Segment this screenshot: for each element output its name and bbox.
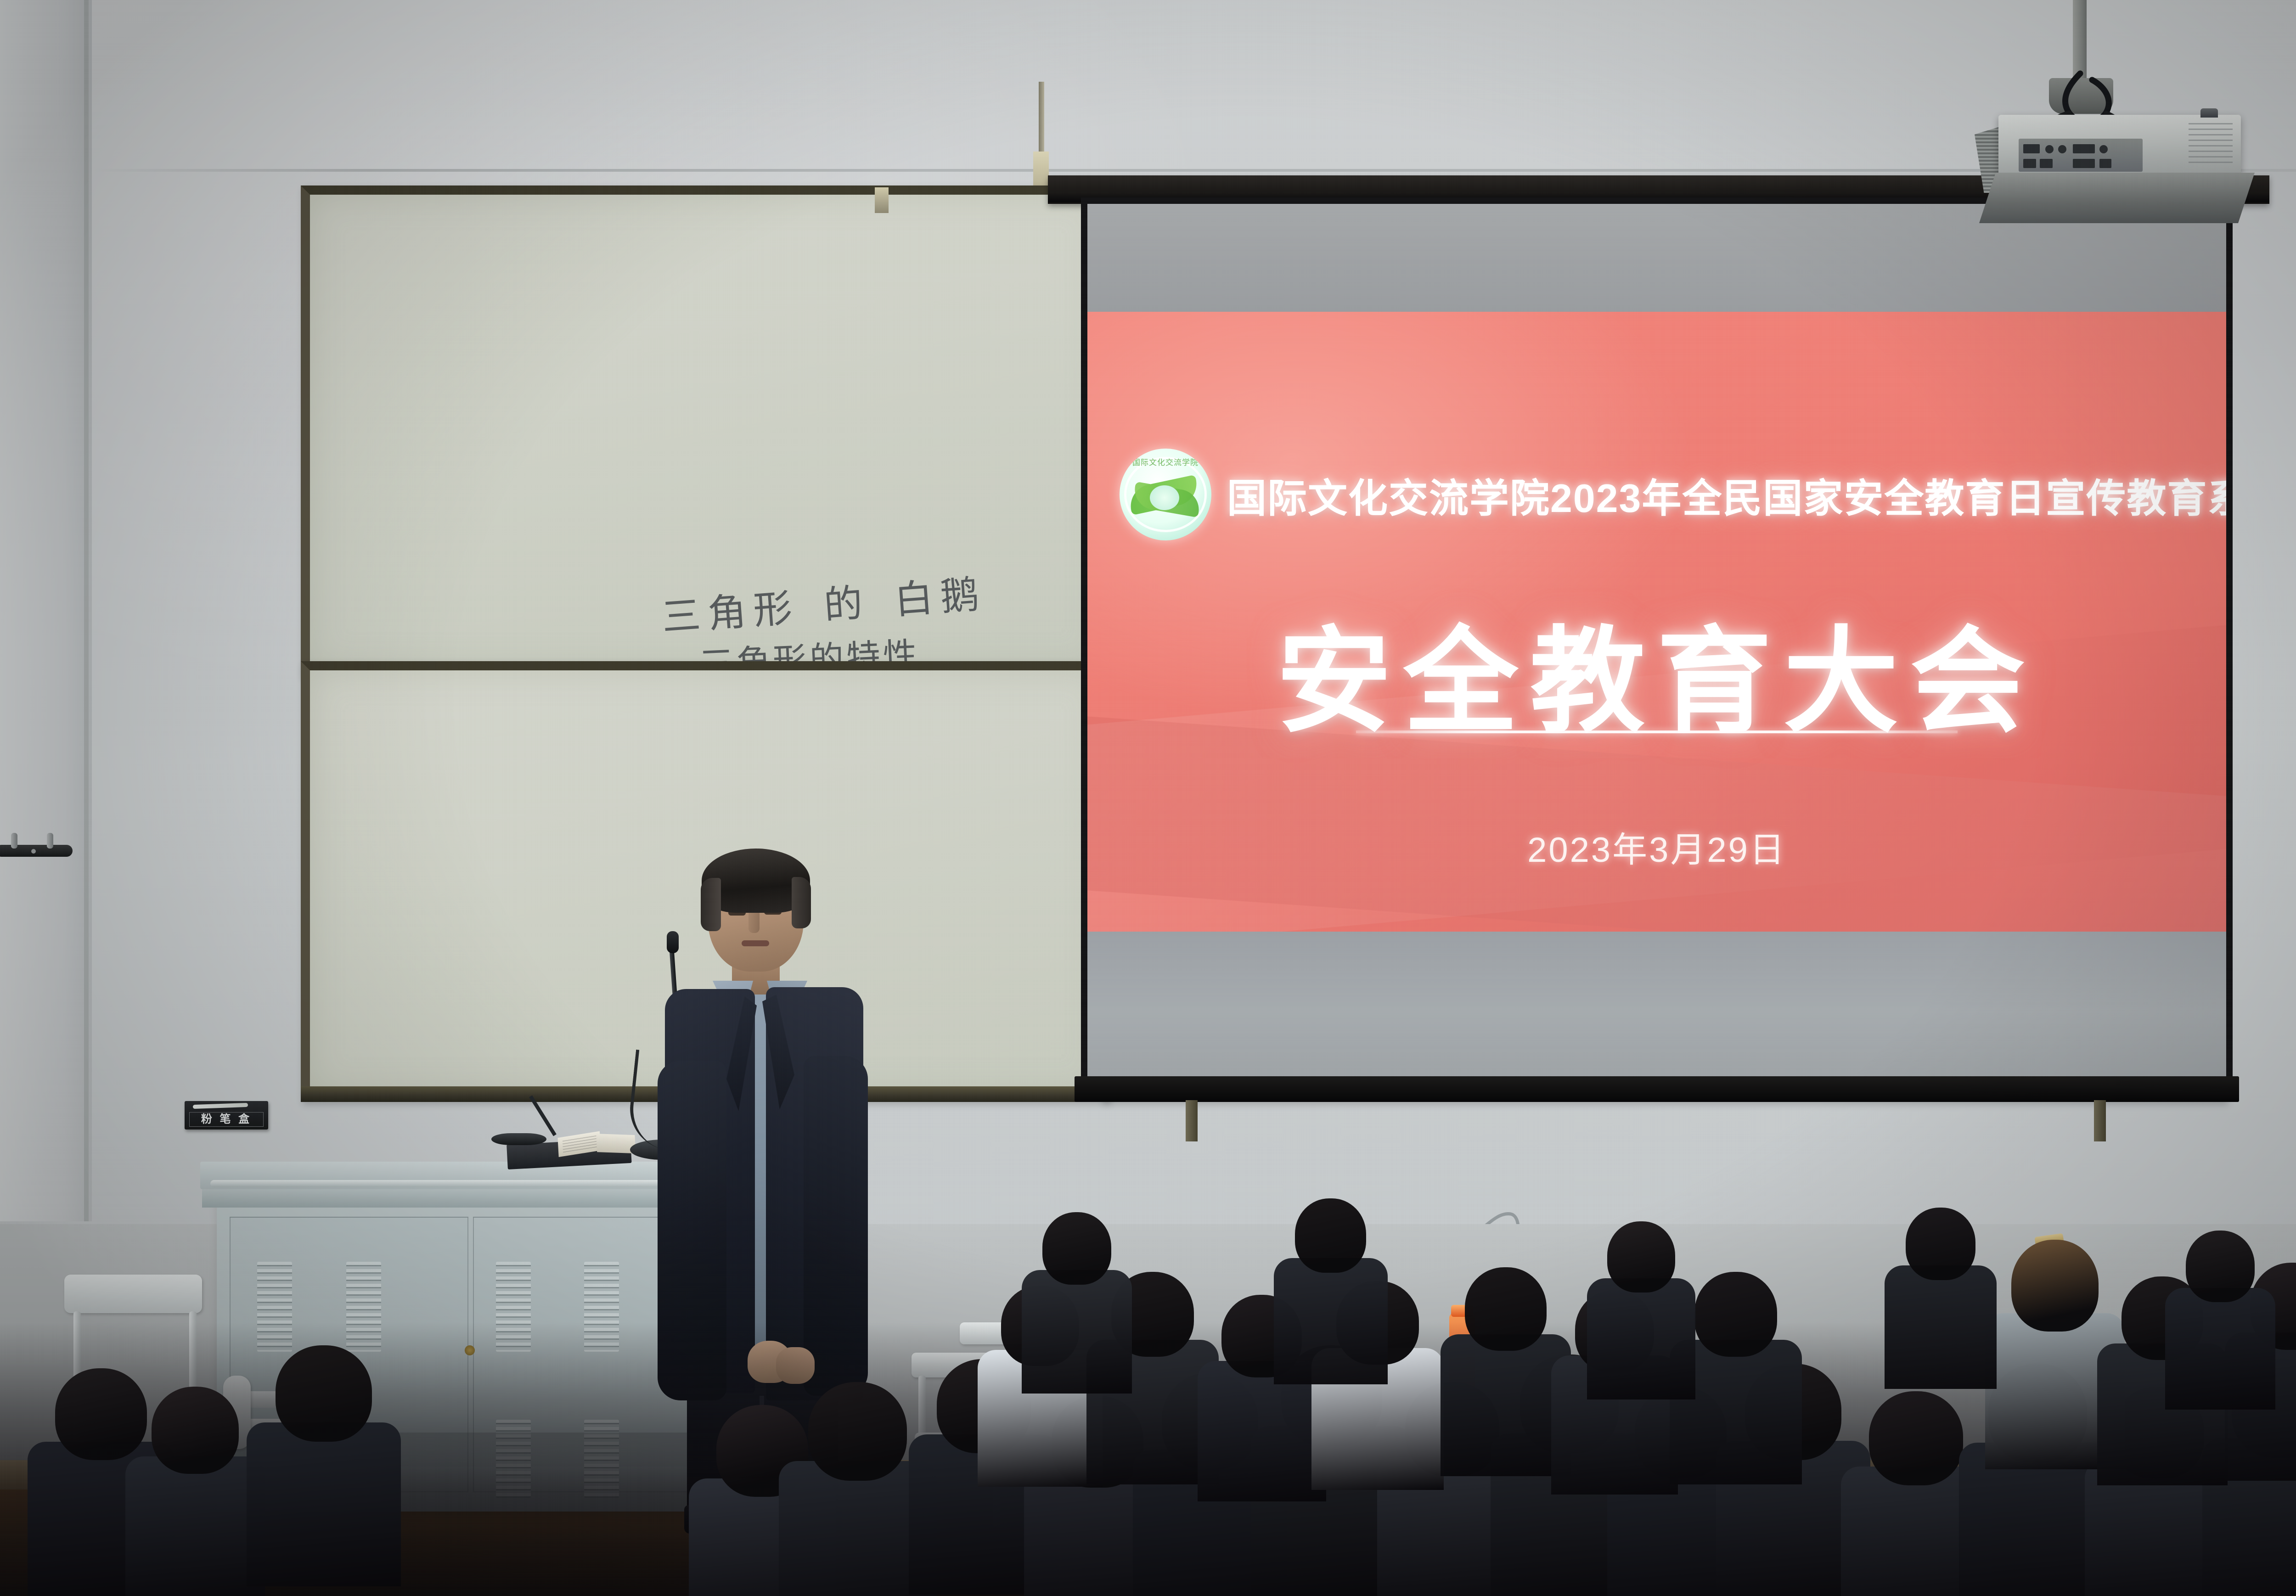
audience-member-head [1607,1221,1675,1293]
audience-member [1869,1391,1963,1596]
secondary-microphone-base [491,1133,546,1145]
audience-member-head [1869,1391,1963,1485]
hook-rack-screw [31,849,36,854]
projector-focus-knob[interactable] [2200,108,2218,118]
audience-member [2011,1240,2099,1460]
presentation-slide: 国际文化交流学院 国际文化交流学院2023年全民国家安全教育日宣传教育系列活动 … [1087,312,2226,932]
lectern-top-rail [210,1180,729,1187]
presenter-mouth [742,940,769,946]
left-wall-panel [0,0,92,1221]
audience-member-torso [1885,1265,1996,1389]
audience-member-head [1042,1212,1111,1285]
logo-ring-text: 国际文化交流学院 [1120,456,1211,467]
chair-backrest[interactable] [64,1275,202,1313]
audience-member-torso [1274,1258,1388,1384]
projector-lower-body [1979,173,2255,223]
logo-center [1150,485,1179,510]
lectern-door-lock[interactable] [465,1345,475,1355]
audience-member-torso [1587,1278,1696,1399]
audience-member-head [1295,1198,1366,1273]
presenter-hair-side-right [792,877,811,928]
whiteboard-clip [875,187,889,213]
presenter-hand-right [776,1347,815,1384]
audience-member-head [152,1387,239,1474]
screen-support-leg-left [1186,1100,1198,1141]
screen-support-leg-right [2094,1100,2106,1141]
audience-member-torso [125,1456,265,1596]
presenter-arm-right [804,1056,868,1396]
chalk-box[interactable]: 粉 笔 盒 [185,1101,268,1130]
projector-port-panel [2019,139,2143,172]
institution-logo-icon: 国际文化交流学院 [1120,449,1211,540]
slide-main-title: 安全教育大会 [1087,588,2226,754]
presenter-hair-side-left [701,878,721,931]
screen-surface: 国际文化交流学院 国际文化交流学院2023年全民国家安全教育日宣传教育系列活动 … [1087,204,2226,1077]
audience-member-head [276,1345,372,1442]
screen-bottom-grey-band [1087,932,2226,1077]
audience-member-torso [1022,1270,1132,1394]
audience-member-head [2011,1240,2099,1332]
audience-member [1042,1212,1111,1386]
coat-hook-rack [0,845,73,857]
ceiling-projector [1998,115,2241,176]
wall-bracket-base [1033,152,1049,187]
audience-member [1607,1221,1675,1392]
wall-seam-line [92,169,2296,172]
coat-hook [47,833,53,849]
coat-hook [11,833,17,849]
projection-screen: 国际文化交流学院 国际文化交流学院2023年全民国家安全教育日宣传教育系列活动 … [1081,197,2233,1084]
audience-member-head [55,1368,147,1460]
chalk-box-label: 粉 笔 盒 [189,1112,264,1127]
classroom-photo-scene: 粉 笔 盒 三角形的白鹅 一三角形的特性 白鹅 M 国际文化交流学院 [0,0,2296,1596]
audience-member [152,1387,239,1596]
audience-member [1694,1272,1777,1476]
chalk-stick [193,1103,248,1109]
audience-member [1295,1198,1366,1377]
whiteboard-top-left: 三角形的白鹅 一三角形的特性 白鹅 M [301,185,1109,677]
wall-corner-edge [84,0,89,1221]
lectern-apron [202,1186,735,1208]
audience-member [808,1382,907,1596]
audience-member [2186,1231,2255,1402]
audience-member [276,1345,372,1577]
slide-header-text: 国际文化交流学院2023年全民国家安全教育日宣传教育系列活动 [1227,466,2226,523]
slide-title-underline [1356,731,1958,733]
audience-member-head [1906,1208,1975,1280]
slide-date: 2023年3月29日 [1087,821,2226,872]
projector-rating-label [2189,123,2233,167]
audience-member-head [1465,1267,1547,1351]
presenter-arm-left [658,1061,726,1400]
audience-member-head [2186,1231,2255,1302]
audience-member-head [808,1382,907,1481]
audience-member-head [1694,1272,1777,1357]
slide-header-row: 国际文化交流学院 国际文化交流学院2023年全民国家安全教育日宣传教育系列活动 [1120,449,2203,540]
screen-bottom-weight-bar [1075,1076,2239,1102]
audience-member [1465,1267,1547,1468]
audience-member-torso [247,1422,401,1586]
whiteboard-handwriting-line-1: 三角形的白鹅 [660,563,988,642]
audience-member-torso [2165,1288,2275,1410]
audience-member [1906,1208,1975,1382]
